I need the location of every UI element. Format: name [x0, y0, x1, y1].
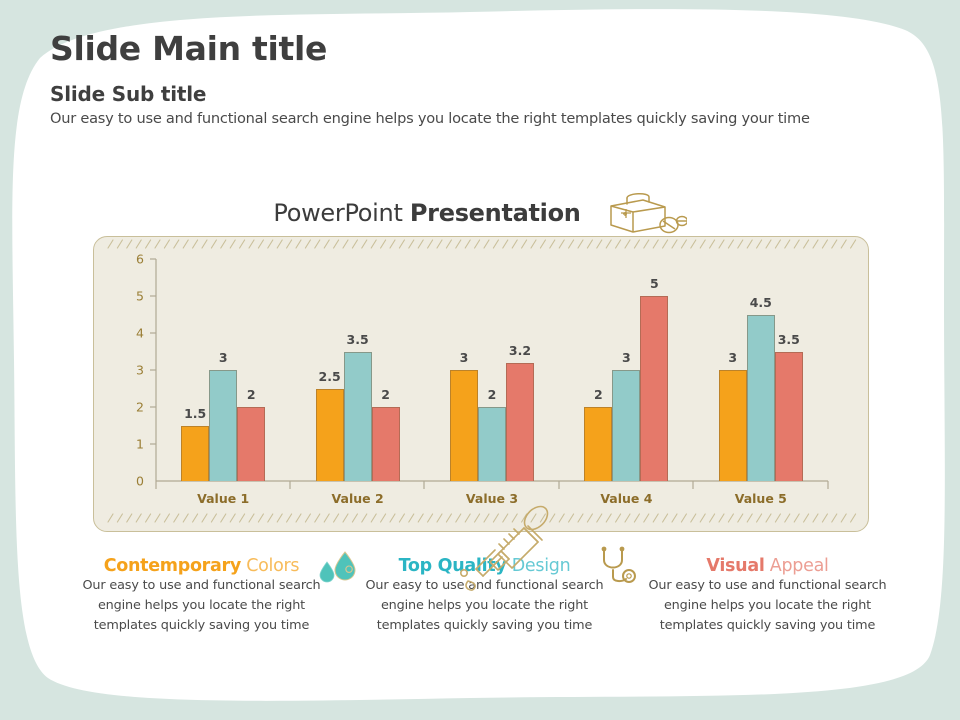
chart-title: PowerPoint Presentation	[273, 199, 580, 227]
y-axis-tick-label: 4	[122, 326, 144, 341]
feature-column-contemporary-colors: Contemporary Colors Our easy to use and …	[60, 556, 343, 637]
feature-heading-3-bold: Visual	[706, 556, 764, 576]
bar-value-label: 2	[247, 387, 256, 402]
bar-value-label: 1.5	[184, 406, 206, 421]
first-aid-kit-icon	[587, 192, 687, 236]
bar-value-label: 2.5	[319, 369, 341, 384]
bar-rect[interactable]	[344, 352, 372, 482]
bar-rect[interactable]	[316, 389, 344, 482]
bar-value-label: 2	[381, 387, 390, 402]
bar-value-label: 3	[728, 350, 737, 365]
bar-3[interactable]: 5	[640, 296, 668, 481]
bar-3[interactable]: 2	[372, 407, 400, 481]
chart-title-light: PowerPoint	[273, 199, 409, 227]
bar-rect[interactable]	[747, 315, 775, 482]
chart-panel: 0123456 1.5322.53.52323.223534.53.5 Valu…	[93, 236, 869, 532]
bar-value-label: 3.5	[778, 332, 800, 347]
chart-title-row: PowerPoint Presentation	[0, 190, 960, 236]
page-description: Our easy to use and functional search en…	[50, 110, 930, 127]
x-axis-category-label: Value 2	[332, 491, 384, 506]
syringe-icon	[446, 495, 554, 597]
bar-1[interactable]: 2.5	[316, 389, 344, 482]
feature-heading-1: Contemporary Colors	[60, 556, 343, 576]
bar-rect[interactable]	[209, 370, 237, 481]
bar-2[interactable]: 2	[478, 407, 506, 481]
plot-area: 0123456 1.5322.53.52323.223534.53.5 Valu…	[94, 237, 870, 533]
bar-value-label: 3.5	[347, 332, 369, 347]
x-axis-category-label: Value 4	[600, 491, 652, 506]
chart-title-strong: Presentation	[410, 199, 581, 227]
feature-body-1: Our easy to use and functional search en…	[60, 576, 343, 637]
bar-rect[interactable]	[584, 407, 612, 481]
bar-rect[interactable]	[478, 407, 506, 481]
bar-rect[interactable]	[775, 352, 803, 482]
bar-1[interactable]: 3	[719, 370, 747, 481]
page-title: Slide Main title	[50, 30, 930, 68]
bar-1[interactable]: 2	[584, 407, 612, 481]
bar-rect[interactable]	[237, 407, 265, 481]
feature-heading-3-light: Appeal	[765, 556, 829, 576]
y-axis-tick-label: 5	[122, 289, 144, 304]
bar-2[interactable]: 3.5	[344, 352, 372, 482]
y-axis-tick-label: 0	[122, 474, 144, 489]
bar-1[interactable]: 1.5	[181, 426, 209, 482]
bar-value-label: 4.5	[750, 295, 772, 310]
bar-group: 2.53.52	[290, 259, 424, 481]
feature-column-visual-appeal: Visual Appeal Our easy to use and functi…	[626, 556, 909, 637]
bar-2[interactable]: 4.5	[747, 315, 775, 482]
bar-group: 34.53.5	[694, 259, 828, 481]
bar-1[interactable]: 3	[450, 370, 478, 481]
page-subtitle: Slide Sub title	[50, 82, 930, 106]
bar-rect[interactable]	[372, 407, 400, 481]
y-axis-tick-label: 3	[122, 363, 144, 378]
bar-group: 235	[559, 259, 693, 481]
bar-group: 323.2	[425, 259, 559, 481]
bar-2[interactable]: 3	[612, 370, 640, 481]
bar-value-label: 2	[488, 387, 497, 402]
bar-rect[interactable]	[506, 363, 534, 481]
bar-value-label: 2	[594, 387, 603, 402]
bar-3[interactable]: 2	[237, 407, 265, 481]
bar-3[interactable]: 3.5	[775, 352, 803, 482]
y-axis-tick-label: 1	[122, 437, 144, 452]
slide-header: Slide Main title Slide Sub title Our eas…	[50, 30, 930, 127]
feature-heading-3: Visual Appeal	[626, 556, 909, 576]
y-axis-tick-label: 2	[122, 400, 144, 415]
bar-rect[interactable]	[612, 370, 640, 481]
bar-value-label: 3.2	[509, 343, 531, 358]
y-axis-tick-label: 6	[122, 252, 144, 267]
bar-value-label: 3	[219, 350, 228, 365]
bar-value-label: 3	[622, 350, 631, 365]
bar-rect[interactable]	[640, 296, 668, 481]
feature-heading-1-bold: Contemporary	[104, 556, 241, 576]
bar-2[interactable]: 3	[209, 370, 237, 481]
bars-area: 1.5322.53.52323.223534.53.5	[156, 259, 828, 481]
bar-3[interactable]: 3.2	[506, 363, 534, 481]
bar-rect[interactable]	[719, 370, 747, 481]
x-axis-category-label: Value 1	[197, 491, 249, 506]
feature-heading-1-light: Colors	[241, 556, 299, 576]
bar-value-label: 5	[650, 276, 659, 291]
bar-rect[interactable]	[450, 370, 478, 481]
x-axis-category-label: Value 5	[735, 491, 787, 506]
bar-value-label: 3	[460, 350, 469, 365]
bar-rect[interactable]	[181, 426, 209, 482]
feature-body-3: Our easy to use and functional search en…	[626, 576, 909, 637]
bar-group: 1.532	[156, 259, 290, 481]
